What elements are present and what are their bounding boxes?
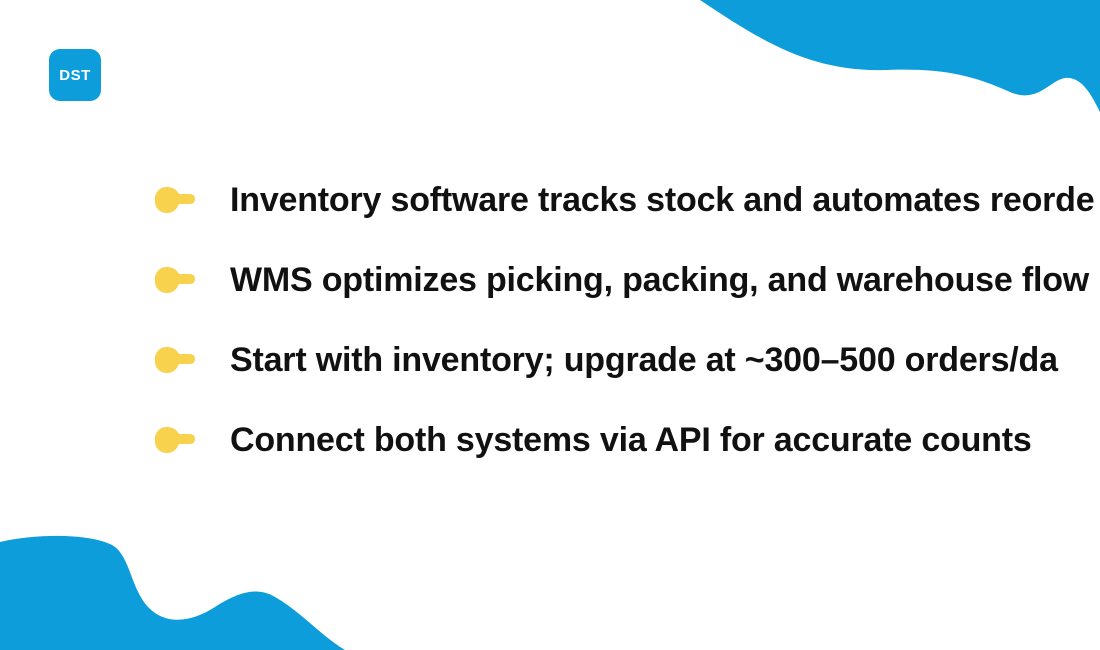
list-item-text: WMS optimizes picking, packing, and ware… bbox=[230, 263, 1089, 297]
list-item: Connect both systems via API for accurat… bbox=[152, 400, 1100, 480]
pointing-right-hand-icon bbox=[152, 343, 230, 377]
list-item: WMS optimizes picking, packing, and ware… bbox=[152, 240, 1100, 320]
logo-badge[interactable]: DST bbox=[49, 49, 101, 101]
logo-text: DST bbox=[59, 68, 91, 83]
decor-blob-bottom-left bbox=[0, 515, 420, 650]
pointing-right-hand-icon bbox=[152, 183, 230, 217]
list-item: Start with inventory; upgrade at ~300–50… bbox=[152, 320, 1100, 400]
list-item-text: Inventory software tracks stock and auto… bbox=[230, 183, 1094, 217]
decor-blob-top-right bbox=[640, 0, 1100, 135]
pointing-right-hand-icon bbox=[152, 423, 230, 457]
list-item-text: Start with inventory; upgrade at ~300–50… bbox=[230, 343, 1058, 377]
list-item-text: Connect both systems via API for accurat… bbox=[230, 423, 1032, 457]
slide-canvas: DST Inventory software tracks stock and … bbox=[0, 0, 1100, 650]
pointing-right-hand-icon bbox=[152, 263, 230, 297]
list-item: Inventory software tracks stock and auto… bbox=[152, 160, 1100, 240]
bullet-list: Inventory software tracks stock and auto… bbox=[152, 160, 1100, 480]
